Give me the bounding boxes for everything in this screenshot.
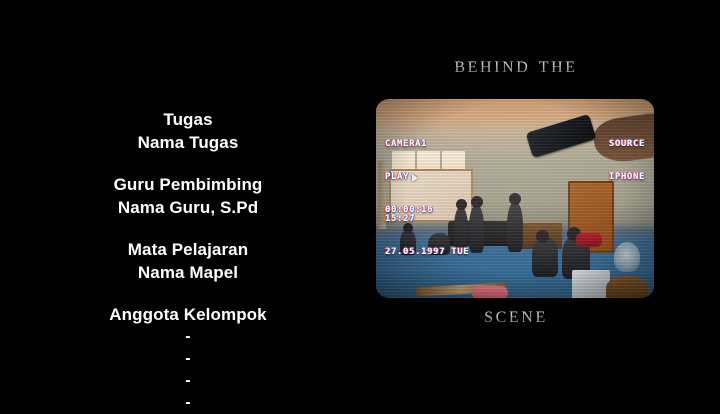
door-jamb bbox=[378, 161, 386, 229]
person-silhouette bbox=[428, 233, 450, 255]
credits-column: Tugas Nama Tugas Guru Pembimbing Nama Gu… bbox=[28, 108, 348, 414]
person-silhouette bbox=[469, 205, 484, 253]
person-silhouette bbox=[507, 202, 523, 252]
hand-arm bbox=[591, 113, 654, 166]
fan-object bbox=[614, 242, 640, 272]
credit-line: Anggota Kelompok bbox=[28, 303, 348, 326]
credit-line: - bbox=[28, 392, 348, 414]
credit-group-anggota-kelompok: Anggota Kelompok - - - - bbox=[28, 303, 348, 414]
showcase-panel: Behind The bbox=[366, 52, 666, 352]
credit-group-mata-pelajaran: Mata Pelajaran Nama Mapel bbox=[28, 238, 348, 284]
person-head bbox=[471, 196, 483, 208]
show-title-top: Behind The bbox=[366, 52, 666, 78]
video-credits-slide: Tugas Nama Tugas Guru Pembimbing Nama Gu… bbox=[0, 0, 720, 405]
credit-line: Nama Tugas bbox=[28, 131, 348, 154]
show-title-bottom: Scene bbox=[366, 302, 666, 328]
credit-group-guru-pembimbing: Guru Pembimbing Nama Guru, S.Pd bbox=[28, 173, 348, 219]
credit-line: Mata Pelajaran bbox=[28, 238, 348, 261]
white-box bbox=[572, 270, 610, 298]
person-silhouette bbox=[454, 207, 468, 251]
credit-line: Guru Pembimbing bbox=[28, 173, 348, 196]
person-head bbox=[403, 223, 413, 233]
video-player-frame[interactable]: CAMERA1 PLAY 00:00:16 SOURCE IPHONE 15:2… bbox=[376, 99, 654, 298]
pink-bag bbox=[472, 286, 508, 298]
red-cloth bbox=[576, 233, 602, 247]
phone-device bbox=[526, 114, 597, 158]
credit-line: - bbox=[28, 348, 348, 370]
credit-group-tugas: Tugas Nama Tugas bbox=[28, 108, 348, 154]
credit-line: - bbox=[28, 370, 348, 392]
credit-line: Nama Guru, S.Pd bbox=[28, 196, 348, 219]
credit-line: Tugas bbox=[28, 108, 348, 131]
person-head bbox=[536, 230, 549, 243]
credit-line: - bbox=[28, 326, 348, 348]
person-silhouette bbox=[532, 237, 558, 277]
person-head bbox=[456, 199, 467, 210]
credit-line: Nama Mapel bbox=[28, 261, 348, 284]
person-head bbox=[509, 193, 521, 205]
basket-object bbox=[606, 276, 648, 298]
video-scene-image bbox=[376, 99, 654, 298]
